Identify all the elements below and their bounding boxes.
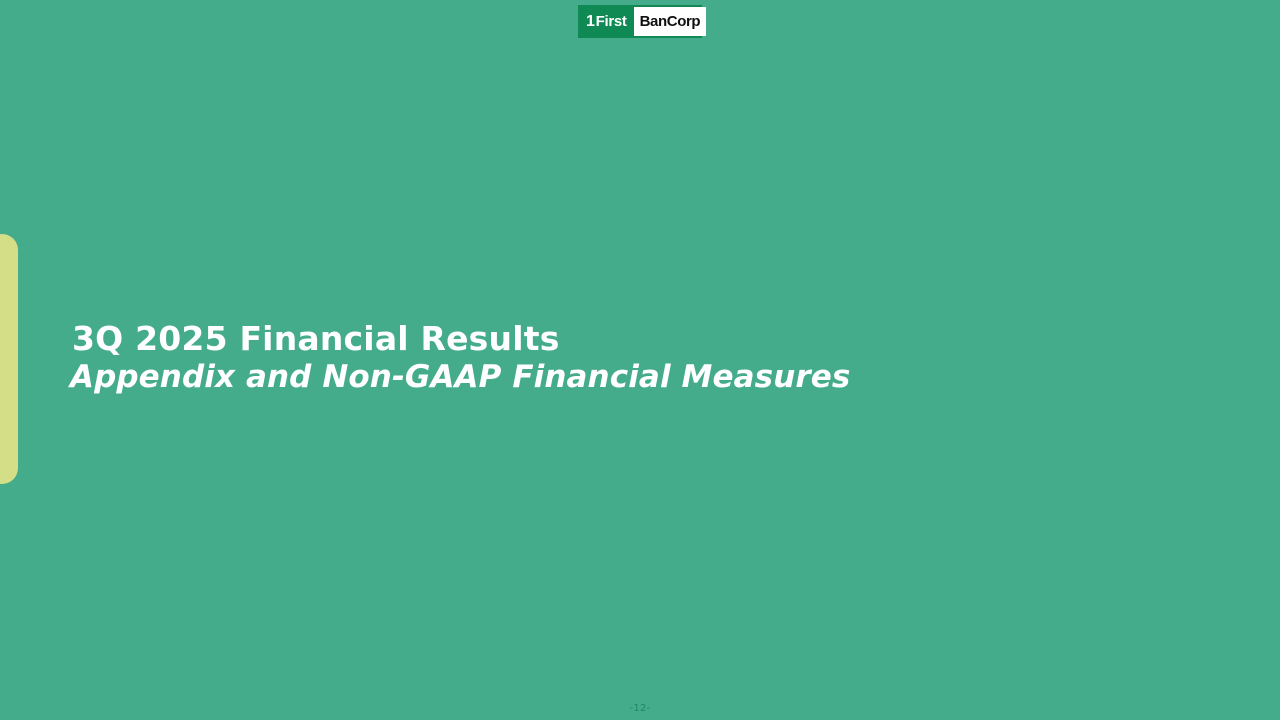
page-number: -12- [0,704,1280,714]
logo-text-first: First [596,14,627,29]
firstbancorp-logo: 1First BanCorp [578,5,702,38]
logo-numeral-one: 1 [586,14,595,30]
logo-text-bancorp: BanCorp [634,7,707,36]
logo-mark-first: 1First [580,7,634,36]
page-subtitle: Appendix and Non-GAAP Financial Measures [70,360,1170,396]
section-title-block: 3Q 2025 Financial Results Appendix and N… [70,320,1170,396]
left-accent-bar [0,234,18,484]
page-title: 3Q 2025 Financial Results [72,320,1170,358]
presentation-slide: 1First BanCorp 3Q 2025 Financial Results… [0,0,1280,720]
